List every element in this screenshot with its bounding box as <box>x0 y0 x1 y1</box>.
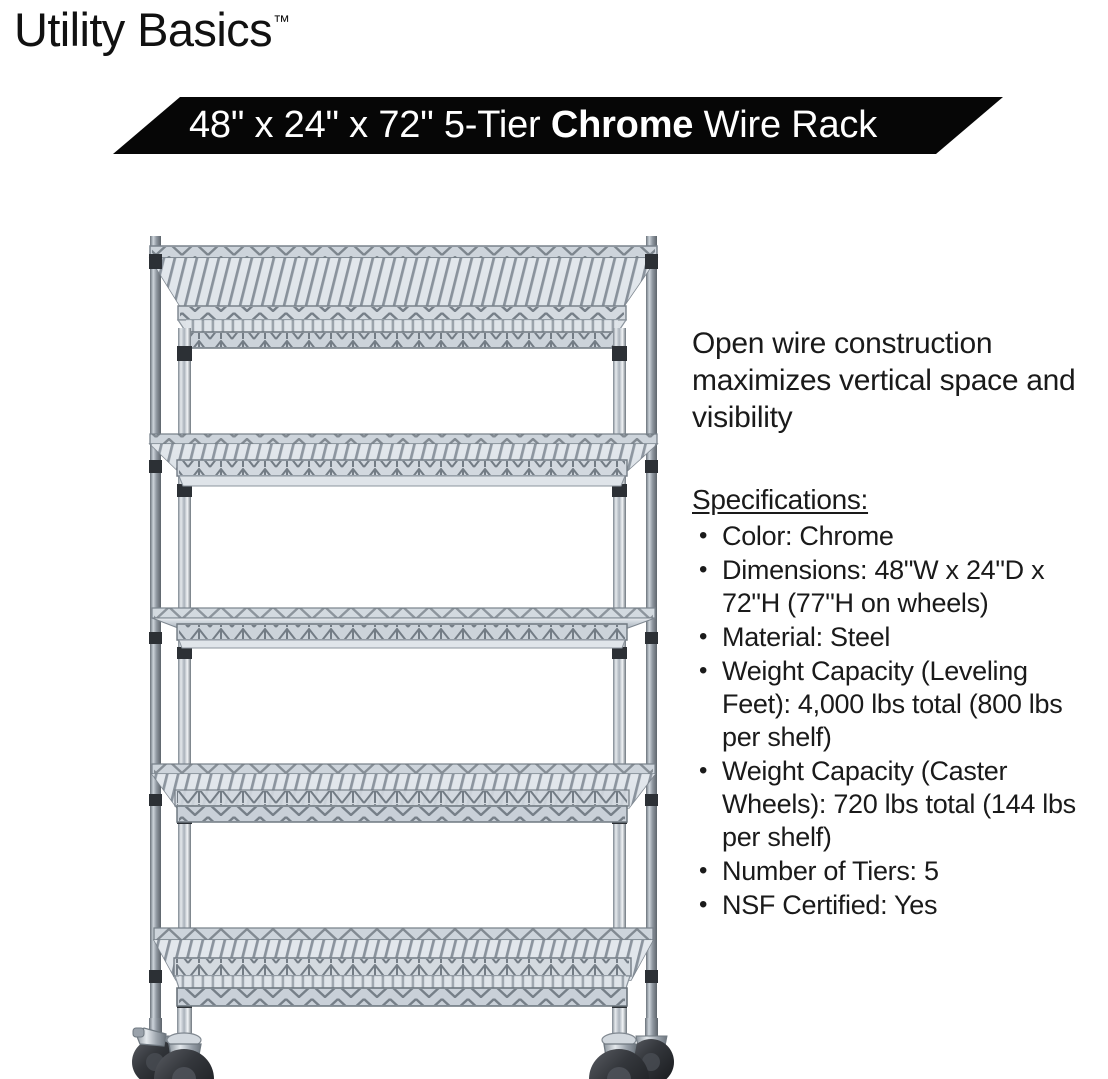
product-image <box>78 228 678 1079</box>
title-prefix: 48" x 24" x 72" 5-Tier <box>189 104 551 146</box>
spec-item-dimensions: Dimensions: 48"W x 24"D x 72"H (77"H on … <box>722 554 1102 620</box>
shelf-tier-1 <box>150 246 657 348</box>
brand-logo: Utility Basics™ <box>14 2 290 57</box>
brand-name: Utility Basics <box>14 3 272 56</box>
spec-item-tier-count: Number of Tiers: 5 <box>722 855 1102 888</box>
shelf-tier-4 <box>152 764 655 822</box>
spec-item-color: Color: Chrome <box>722 520 1102 553</box>
wire-rack-illustration <box>78 228 678 1079</box>
product-title-text: 48" x 24" x 72" 5-Tier Chrome Wire Rack <box>189 104 877 147</box>
title-suffix: Wire Rack <box>693 104 877 146</box>
shelf-tier-3 <box>152 608 655 648</box>
product-copy-column: Open wire construction maximizes vertica… <box>692 325 1102 923</box>
product-title-banner: 48" x 24" x 72" 5-Tier Chrome Wire Rack <box>113 97 1003 154</box>
shelf-tier-5 <box>154 928 653 1006</box>
spec-item-material: Material: Steel <box>722 621 1102 654</box>
specifications-list: Color: Chrome Dimensions: 48"W x 24"D x … <box>692 520 1102 922</box>
title-emphasis: Chrome <box>551 104 693 146</box>
spec-item-capacity-leveling-feet: Weight Capacity (Leveling Feet): 4,000 l… <box>722 655 1102 754</box>
spec-item-nsf-certified: NSF Certified: Yes <box>722 889 1102 922</box>
spec-item-capacity-casters: Weight Capacity (Caster Wheels): 720 lbs… <box>722 755 1102 854</box>
trademark-symbol: ™ <box>273 12 290 31</box>
shelf-tier-2 <box>150 434 657 486</box>
feature-headline: Open wire construction maximizes vertica… <box>692 325 1102 436</box>
specifications-heading: Specifications: <box>692 484 1102 516</box>
